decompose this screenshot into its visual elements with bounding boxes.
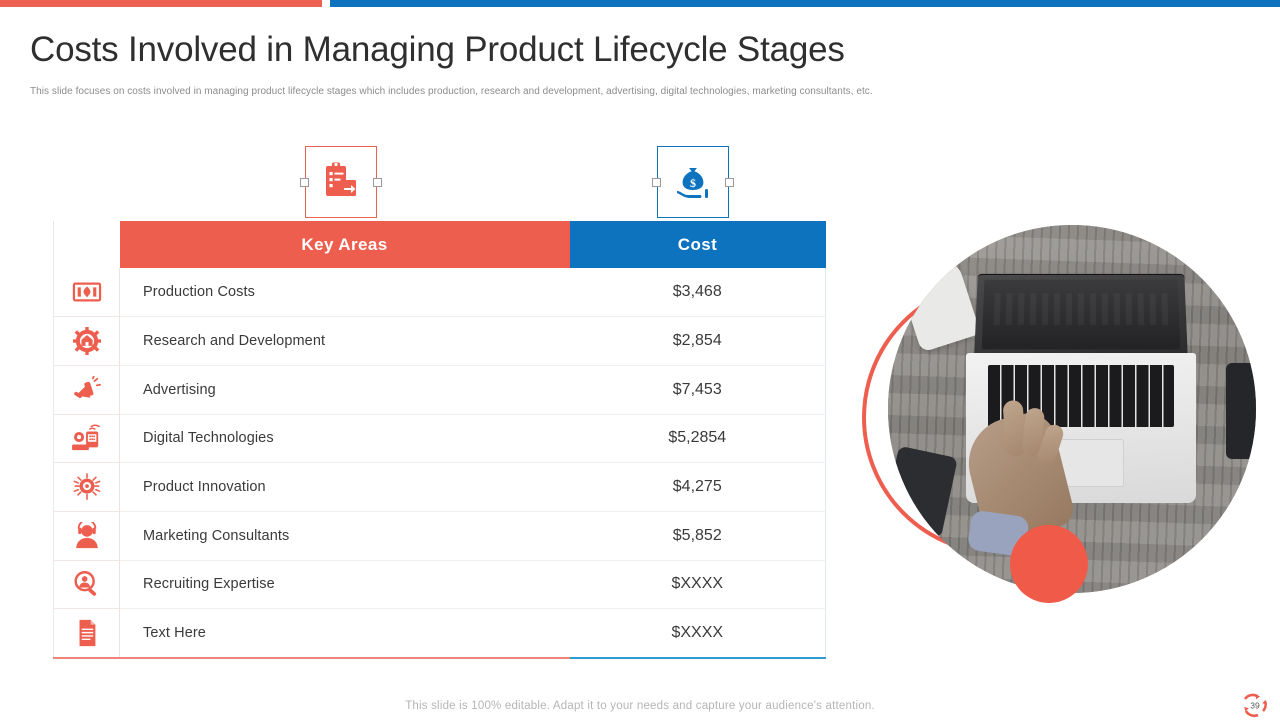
- table-row: Digital Technologies$5,2854: [54, 414, 826, 463]
- row-cost: $3,468: [570, 268, 826, 317]
- row-cost: $XXXX: [570, 609, 826, 658]
- row-key-area: Production Costs: [120, 268, 570, 317]
- screen-reflection: [994, 293, 1169, 325]
- photo-composition: [862, 225, 1232, 600]
- row-key-area: Digital Technologies: [120, 414, 570, 463]
- table-row: Production Costs$3,468: [54, 268, 826, 317]
- row-cost: $7,453: [570, 365, 826, 414]
- row-cost: $5,2854: [570, 414, 826, 463]
- row-icon-cell: [54, 560, 120, 609]
- row-icon-cell: [54, 463, 120, 512]
- row-key-area: Marketing Consultants: [120, 511, 570, 560]
- top-accent-bar-red: [0, 0, 322, 7]
- slide-number-text: 39: [1250, 701, 1260, 711]
- headset-person-icon: [72, 527, 102, 544]
- row-icon-cell: [54, 268, 120, 317]
- badge-cost[interactable]: $: [657, 146, 729, 218]
- clipboard-checklist-icon: [305, 146, 377, 218]
- row-key-area: Text Here: [120, 609, 570, 658]
- slide-canvas: Costs Involved in Managing Product Lifec…: [0, 0, 1280, 720]
- slide-number-badge: 39: [1238, 692, 1272, 718]
- table-header-row: Key Areas Cost: [54, 221, 826, 268]
- table-row: Advertising$7,453: [54, 365, 826, 414]
- gear-house-research-icon: [72, 332, 102, 349]
- page-subtitle: This slide focuses on costs involved in …: [30, 86, 873, 97]
- table-head: Key Areas Cost: [54, 221, 826, 268]
- megaphone-icon: [72, 381, 102, 398]
- laptop-screen: [974, 274, 1188, 358]
- decorative-orange-circle: [1010, 525, 1088, 603]
- table-row: Text Here$XXXX: [54, 609, 826, 658]
- table-header-icon-col: [54, 221, 120, 268]
- table-body: Production Costs$3,468Research and Devel…: [54, 268, 826, 658]
- gear-device-digital-icon: [72, 430, 102, 447]
- row-icon-cell: [54, 365, 120, 414]
- svg-text:$: $: [690, 176, 696, 190]
- table-row: Product Innovation$4,275: [54, 463, 826, 512]
- row-icon-cell: [54, 511, 120, 560]
- row-cost: $XXXX: [570, 560, 826, 609]
- table-row: Research and Development$2,854: [54, 317, 826, 366]
- table-row: Recruiting Expertise$XXXX: [54, 560, 826, 609]
- row-key-area: Advertising: [120, 365, 570, 414]
- document-icon: [72, 624, 102, 641]
- page-title: Costs Involved in Managing Product Lifec…: [30, 30, 845, 70]
- money-bag-on-hand-icon: $: [657, 146, 729, 218]
- row-cost: $2,854: [570, 317, 826, 366]
- innovation-bulb-gear-icon: [72, 478, 102, 495]
- costs-table: Key Areas Cost Production Costs$3,468Res…: [53, 221, 826, 659]
- production-factory-icon: [72, 283, 102, 300]
- row-cost: $5,852: [570, 511, 826, 560]
- top-accent-bar-blue: [330, 0, 1280, 7]
- table-header-cost: Cost: [570, 221, 826, 268]
- table-row: Marketing Consultants$5,852: [54, 511, 826, 560]
- row-icon-cell: [54, 609, 120, 658]
- row-key-area: Recruiting Expertise: [120, 560, 570, 609]
- row-key-area: Product Innovation: [120, 463, 570, 512]
- row-icon-cell: [54, 414, 120, 463]
- row-icon-cell: [54, 317, 120, 366]
- editable-note: This slide is 100% editable. Adapt it to…: [0, 700, 1280, 712]
- row-key-area: Research and Development: [120, 317, 570, 366]
- badge-key-areas[interactable]: [305, 146, 377, 218]
- phone-object: [1226, 363, 1256, 459]
- row-cost: $4,275: [570, 463, 826, 512]
- table-header-key-areas: Key Areas: [120, 221, 570, 268]
- magnifier-person-icon: [72, 576, 102, 593]
